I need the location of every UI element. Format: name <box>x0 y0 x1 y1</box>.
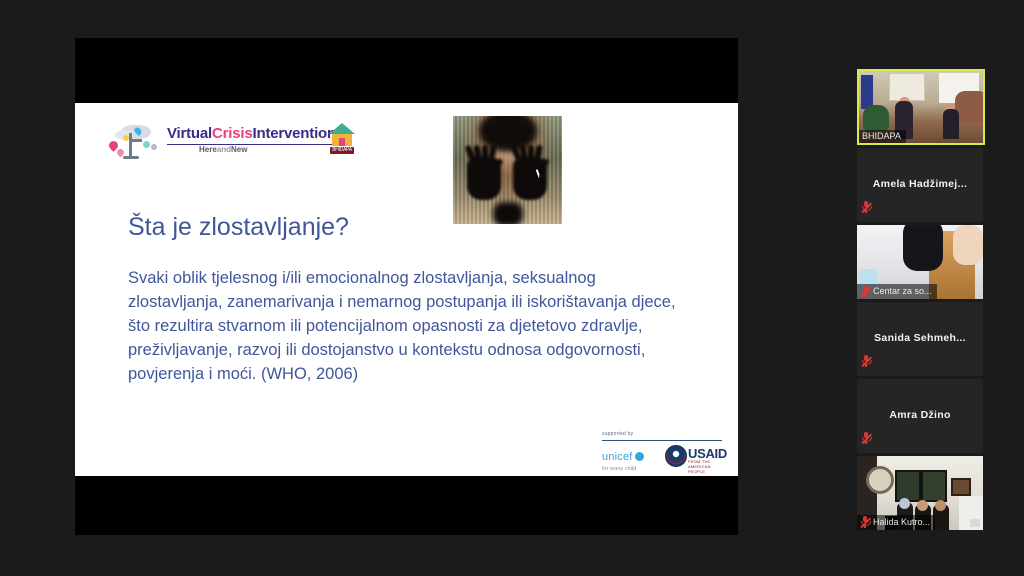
participant-video-strip[interactable]: BHIDAPA Amela Hadžimej... Centar za so..… <box>857 69 985 533</box>
participant-name-bar: BHIDAPA <box>859 130 906 143</box>
slide-image-hands-on-glass <box>453 116 562 224</box>
logo-wordmark: VirtualCrisisInterventions <box>167 125 344 142</box>
participant-tile-sanida-sehmeh[interactable]: Sanida Sehmeh... <box>857 302 983 376</box>
slide-title: Šta je zlostavljanje? <box>128 212 648 242</box>
participant-name-bar: Centar za so... <box>857 284 937 299</box>
slide-donor-logos: supported by unicef for every child USAI… <box>602 431 722 473</box>
mic-muted-icon <box>861 354 871 372</box>
mic-muted-icon <box>860 285 870 297</box>
participant-name-bar: Halida Kutro... <box>857 515 935 530</box>
participant-tile-bhidapa[interactable]: BHIDAPA <box>857 69 985 145</box>
presentation-slide[interactable]: VirtualCrisisInterventions HereandNew BH… <box>75 103 738 476</box>
participant-name: Halida Kutro... <box>873 517 930 527</box>
logo-tagline-and: and <box>217 145 231 154</box>
participant-tile-amra-dzino[interactable]: Amra Džino <box>857 379 983 453</box>
house-tag-label: BHIDAPA <box>331 147 353 154</box>
mic-muted-icon <box>860 516 870 528</box>
footer-divider <box>602 440 722 441</box>
house-icon: BHIDAPA <box>329 123 355 149</box>
participant-name: Amra Džino <box>857 409 983 421</box>
participant-tile-centar-za-so[interactable]: Centar za so... <box>857 225 983 299</box>
logo-tagline-new: New <box>231 145 247 154</box>
mic-muted-icon <box>861 431 871 449</box>
usaid-seal-icon <box>665 445 687 467</box>
participant-name: BHIDAPA <box>862 131 901 141</box>
unicef-tagline: for every child <box>602 466 644 472</box>
meeting-stage: VirtualCrisisInterventions HereandNew BH… <box>0 0 1024 576</box>
virtual-crisis-interventions-logo: VirtualCrisisInterventions HereandNew BH… <box>107 123 352 163</box>
logo-mark-icon <box>107 125 165 159</box>
mic-muted-icon <box>861 200 871 218</box>
participant-name: Amela Hadžimej... <box>857 178 983 190</box>
unicef-logo: unicef for every child <box>602 447 644 472</box>
logo-tagline-here: Here <box>199 145 217 154</box>
logo-word-virtual: Virtual <box>167 125 212 142</box>
participant-name: Centar za so... <box>873 286 932 296</box>
video-corner-badge-icon <box>970 519 980 527</box>
participant-tile-halida-kutro[interactable]: Halida Kutro... <box>857 456 983 530</box>
usaid-tagline: FROM THE AMERICAN PEOPLE <box>688 459 711 474</box>
participant-tile-amela-hadzimej[interactable]: Amela Hadžimej... <box>857 148 983 222</box>
supported-by-label: supported by <box>602 431 633 437</box>
logo-divider <box>167 144 351 145</box>
unicef-wordmark: unicef <box>602 451 633 463</box>
slide-body-text: Svaki oblik tjelesnog i/ili emocionalnog… <box>128 266 688 386</box>
shared-screen-region[interactable]: VirtualCrisisInterventions HereandNew BH… <box>75 38 738 535</box>
logo-tagline: HereandNew <box>199 145 247 154</box>
unicef-globe-icon <box>635 452 644 461</box>
participant-name: Sanida Sehmeh... <box>857 332 983 344</box>
logo-word-crisis: Crisis <box>212 125 253 142</box>
